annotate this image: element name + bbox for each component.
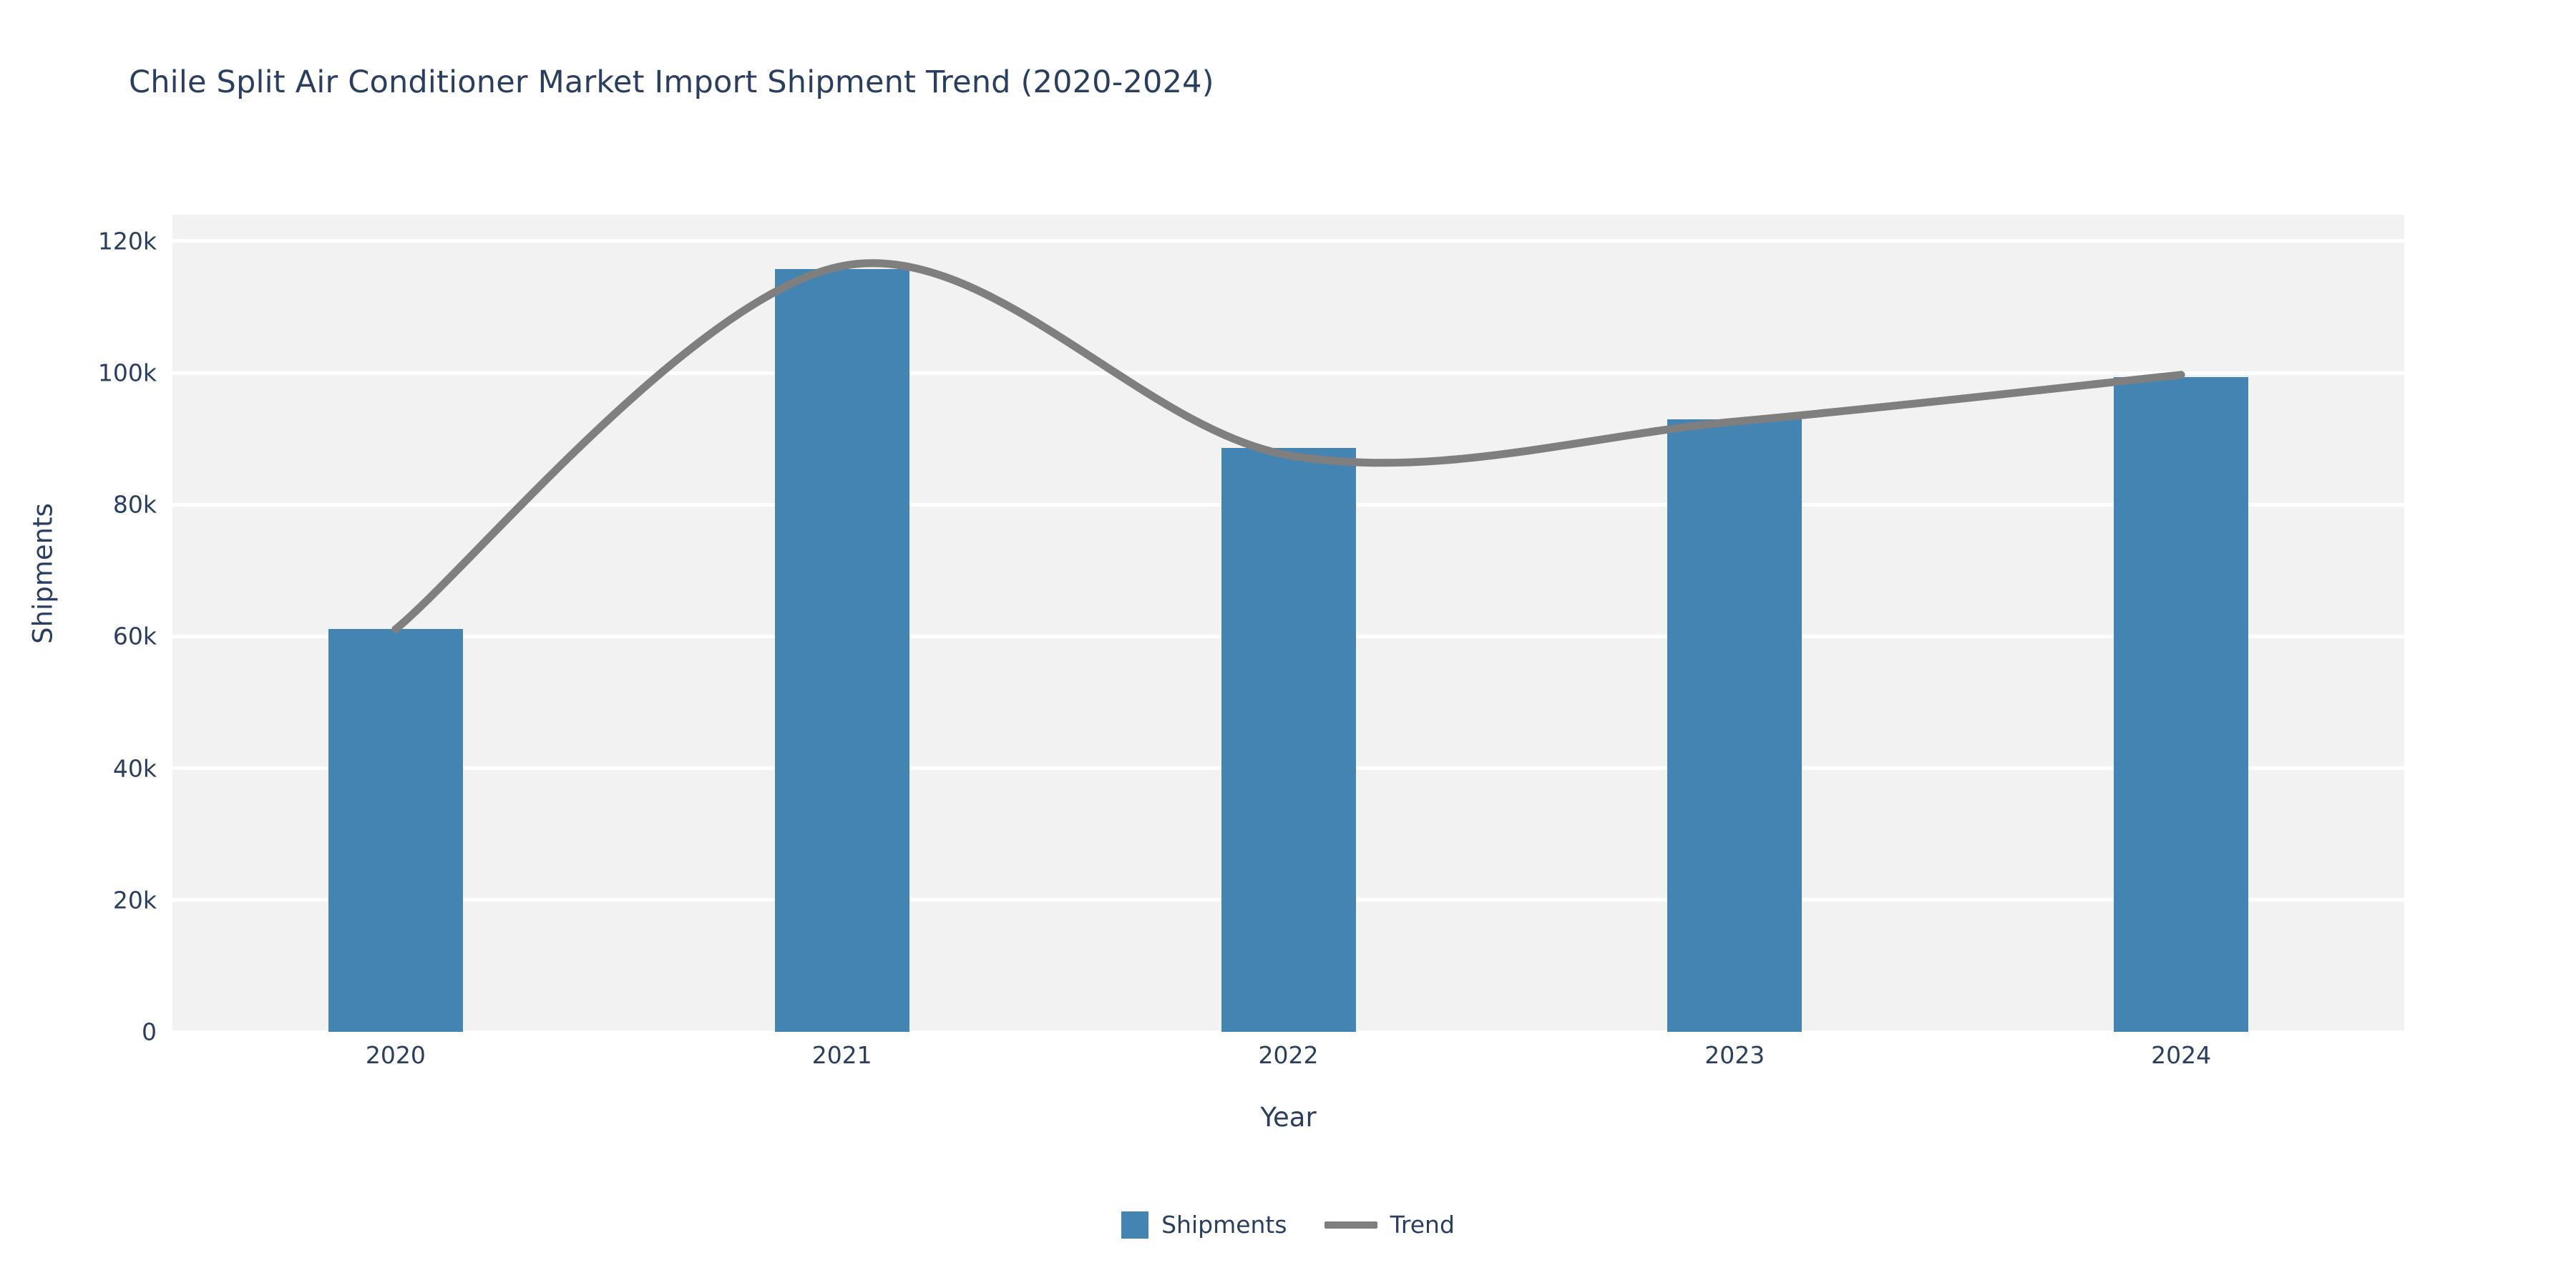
legend-label-trend: Trend [1390,1211,1455,1239]
legend-swatch-square-icon [1121,1211,1148,1239]
y-tick-label: 80k [113,491,157,519]
x-tick-label: 2024 [2151,1041,2211,1069]
y-tick-label: 120k [98,227,157,255]
x-tick-label: 2021 [812,1041,872,1069]
trend-line-layer [172,215,2404,1032]
x-tick-label: 2023 [1704,1041,1765,1069]
trend-line-path [396,263,2181,630]
y-tick-label: 20k [113,886,157,914]
x-axis-tick-labels: 20202021202220232024 [172,1041,2404,1084]
legend-label-shipments: Shipments [1161,1211,1287,1239]
x-tick-label: 2022 [1259,1041,1319,1069]
legend-item-trend[interactable]: Trend [1324,1211,1455,1239]
legend-item-shipments[interactable]: Shipments [1121,1211,1287,1239]
y-tick-label: 40k [113,754,157,782]
chart-legend: Shipments Trend [0,1211,2576,1239]
x-tick-label: 2020 [366,1041,426,1069]
plot-area [172,215,2404,1032]
y-tick-label: 60k [113,623,157,650]
y-axis-tick-labels: 020k40k60k80k100k120k [0,215,172,1032]
chart-figure: Chile Split Air Conditioner Market Impor… [0,0,2576,1288]
legend-swatch-line-icon [1324,1221,1377,1229]
chart-title: Chile Split Air Conditioner Market Impor… [129,64,1214,100]
y-tick-label: 100k [98,359,157,387]
y-tick-label: 0 [142,1018,157,1046]
x-axis-title: Year [172,1102,2404,1133]
y-axis-title: Shipments [28,488,59,660]
